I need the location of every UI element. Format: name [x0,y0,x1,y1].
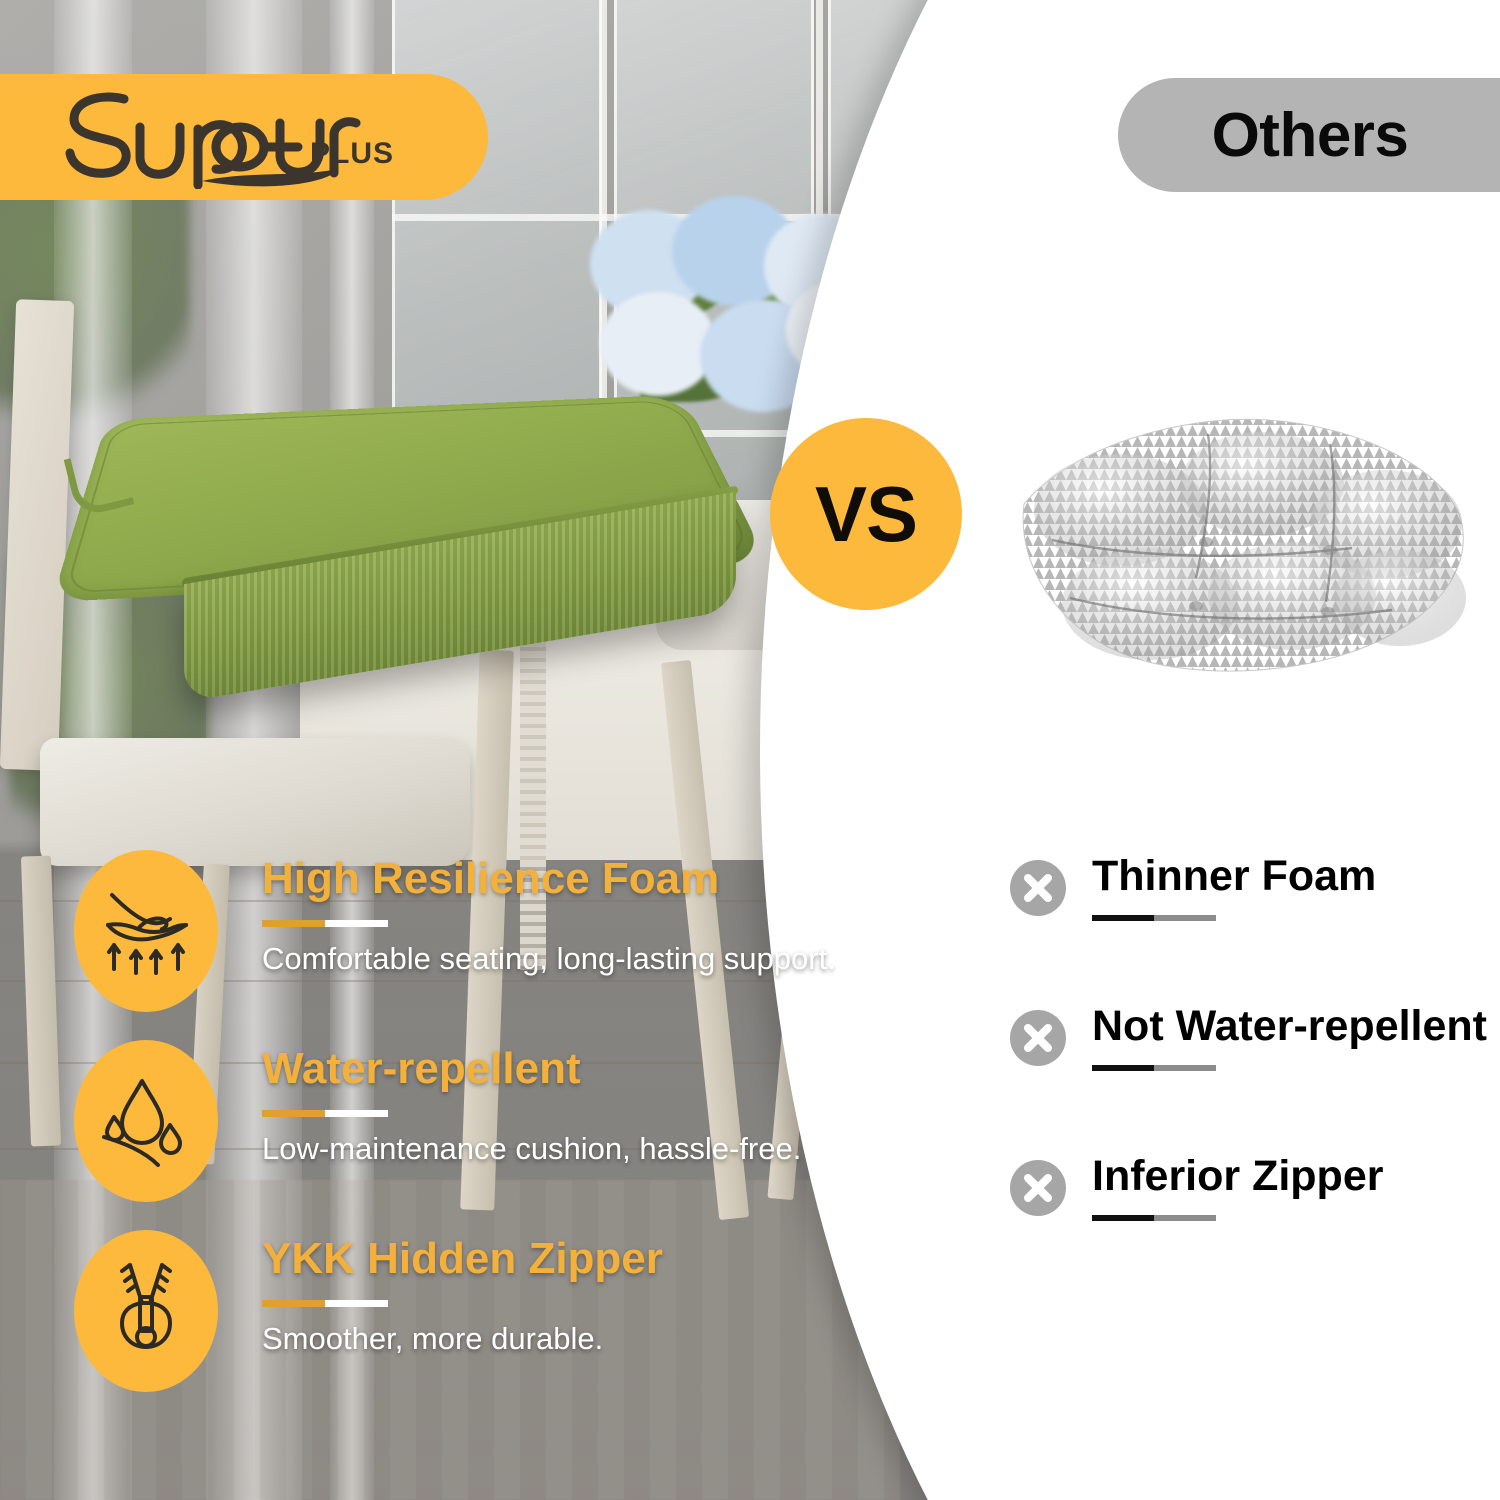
drawback-title: Thinner Foam [1092,852,1500,901]
water-droplet-repellent-icon [74,1040,218,1202]
vs-label: VS [815,469,917,560]
feature-item-high-resilience-foam: High Resilience Foam Comfortable seating… [74,846,834,1036]
brand-logo-mark: PLUS [62,85,392,189]
brand-logo-badge: PLUS [0,74,488,200]
feature-title: High Resilience Foam [262,854,862,904]
feature-rule [262,920,388,927]
x-circle-icon [1010,1010,1066,1066]
others-header-badge: Others [1118,78,1500,192]
others-label: Others [1212,100,1455,171]
brand-logo-suffix: PLUS [310,137,394,171]
drawback-title: Not Water-repellent [1092,1002,1500,1051]
product-image-supdur-cushion [78,356,758,716]
x-circle-icon [1010,1160,1066,1216]
feature-rule [262,1300,388,1307]
feature-title: YKK Hidden Zipper [262,1234,862,1284]
drawback-list: Thinner Foam Not Water-repellent [1010,852,1490,1302]
drawback-rule [1092,1065,1216,1071]
feature-subtitle: Comfortable seating, long-lasting suppor… [262,941,862,977]
feature-item-water-repellent: Water-repellent Low-maintenance cushion,… [74,1036,834,1226]
feature-list: High Resilience Foam Comfortable seating… [74,846,834,1416]
feature-rule [262,1110,388,1117]
feature-subtitle: Smoother, more durable. [262,1321,862,1357]
drawback-item-not-water-repellent: Not Water-repellent [1010,1002,1490,1152]
feature-subtitle: Low-maintenance cushion, hassle-free. [262,1131,862,1167]
vs-badge: VS [770,418,962,610]
drawback-item-inferior-zipper: Inferior Zipper [1010,1152,1490,1302]
feature-item-ykk-hidden-zipper: YKK Hidden Zipper Smoother, more durable… [74,1226,834,1416]
drawback-rule [1092,915,1216,921]
feature-title: Water-repellent [262,1044,862,1094]
competitor-cushion-image [1000,392,1476,684]
comparison-infographic: PLUS VS Others [0,0,1500,1500]
zipper-icon [74,1230,218,1392]
x-circle-icon [1010,860,1066,916]
drawback-item-thinner-foam: Thinner Foam [1010,852,1490,1002]
hand-pressing-foam-icon [74,850,218,1012]
drawback-rule [1092,1215,1216,1221]
drawback-title: Inferior Zipper [1092,1152,1500,1201]
